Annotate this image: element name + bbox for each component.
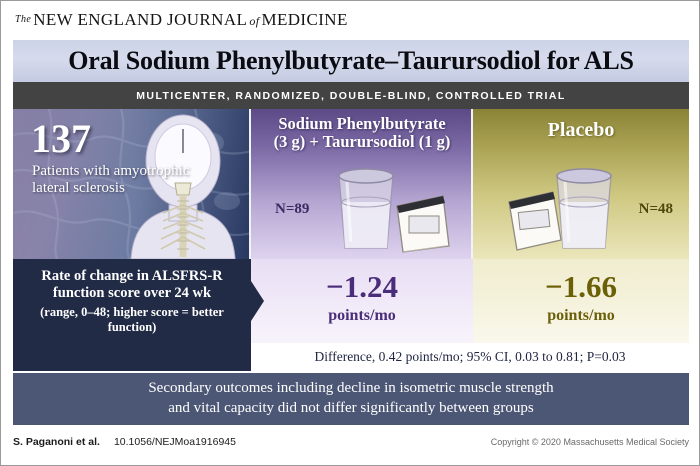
footer-doi[interactable]: 10.1056/NEJMoa1916945 [114, 436, 236, 448]
treatment-title: Sodium Phenylbutyrate (3 g) + Taurursodi… [251, 115, 473, 152]
outcome-text: Rate of change in ALSFRS-R function scor… [13, 268, 251, 334]
glass-and-sachet-icon [319, 162, 469, 257]
page-title: Oral Sodium Phenylbutyrate–Taurursodiol … [68, 46, 634, 76]
treatment-title-line1: Sodium Phenylbutyrate [278, 114, 445, 133]
panel-row: 137 Patients with amyotrophic lateral sc… [13, 109, 689, 259]
outcome-arrow-icon [251, 281, 264, 321]
outcome-label-sub: (range, 0–48; higher score = better func… [23, 305, 241, 334]
conclusion-line1: Secondary outcomes including decline in … [148, 380, 553, 396]
placebo-result-unit: points/mo [473, 307, 689, 325]
footer: S. Paganoni et al. 10.1056/NEJMoa1916945… [13, 431, 689, 453]
conclusion-line2: and vital capacity did not differ signif… [168, 400, 533, 416]
treatment-result-cell: −1.24 points/mo [251, 259, 473, 343]
treatment-result-unit: points/mo [251, 307, 473, 325]
treatment-result-value: −1.24 [251, 271, 473, 302]
journal-name: TheNEW ENGLAND JOURNALofMEDICINE [15, 10, 348, 30]
treatment-n-label: N=89 [275, 201, 309, 218]
masthead-main-last: MEDICINE [261, 10, 347, 29]
outcome-panel-extension [13, 343, 251, 371]
conclusion-text: Secondary outcomes including decline in … [148, 379, 553, 419]
journal-masthead: TheNEW ENGLAND JOURNALofMEDICINE [1, 1, 700, 39]
placebo-panel: Placebo N=48 [473, 109, 689, 259]
treatment-panel: Sodium Phenylbutyrate (3 g) + Taurursodi… [251, 109, 473, 259]
placebo-result-value: −1.66 [473, 271, 689, 302]
study-design-label: MULTICENTER, RANDOMIZED, DOUBLE-BLIND, C… [136, 90, 566, 102]
patient-description: Patients with amyotrophic lateral sclero… [32, 163, 192, 198]
visual-abstract-page: TheNEW ENGLAND JOURNALofMEDICINE Oral So… [0, 0, 700, 466]
conclusion-bar: Secondary outcomes including decline in … [13, 373, 689, 425]
outcome-label-main: Rate of change in ALSFRS-R function scor… [23, 268, 241, 301]
difference-row: Difference, 0.42 points/mo; 95% CI, 0.03… [251, 343, 689, 371]
footer-authors: S. Paganoni et al. [13, 436, 100, 448]
results-row: Rate of change in ALSFRS-R function scor… [13, 259, 689, 343]
study-design-bar: MULTICENTER, RANDOMIZED, DOUBLE-BLIND, C… [13, 82, 689, 109]
title-band: Oral Sodium Phenylbutyrate–Taurursodiol … [13, 40, 689, 82]
outcome-label-panel: Rate of change in ALSFRS-R function scor… [13, 259, 251, 343]
patient-count: 137 [31, 119, 91, 159]
masthead-main-first: NEW ENGLAND JOURNAL [33, 10, 247, 29]
treatment-title-line2: (3 g) + Taurursodiol (1 g) [274, 132, 451, 151]
footer-copyright: Copyright © 2020 Massachusetts Medical S… [491, 437, 689, 447]
patients-panel: 137 Patients with amyotrophic lateral sc… [13, 109, 251, 259]
glass-and-sachet-icon [491, 162, 651, 257]
placebo-result-cell: −1.66 points/mo [473, 259, 689, 343]
difference-statistics: Difference, 0.42 points/mo; 95% CI, 0.03… [314, 349, 625, 365]
masthead-prefix: The [15, 14, 31, 25]
masthead-of: of [247, 14, 261, 28]
placebo-title: Placebo [473, 119, 689, 141]
